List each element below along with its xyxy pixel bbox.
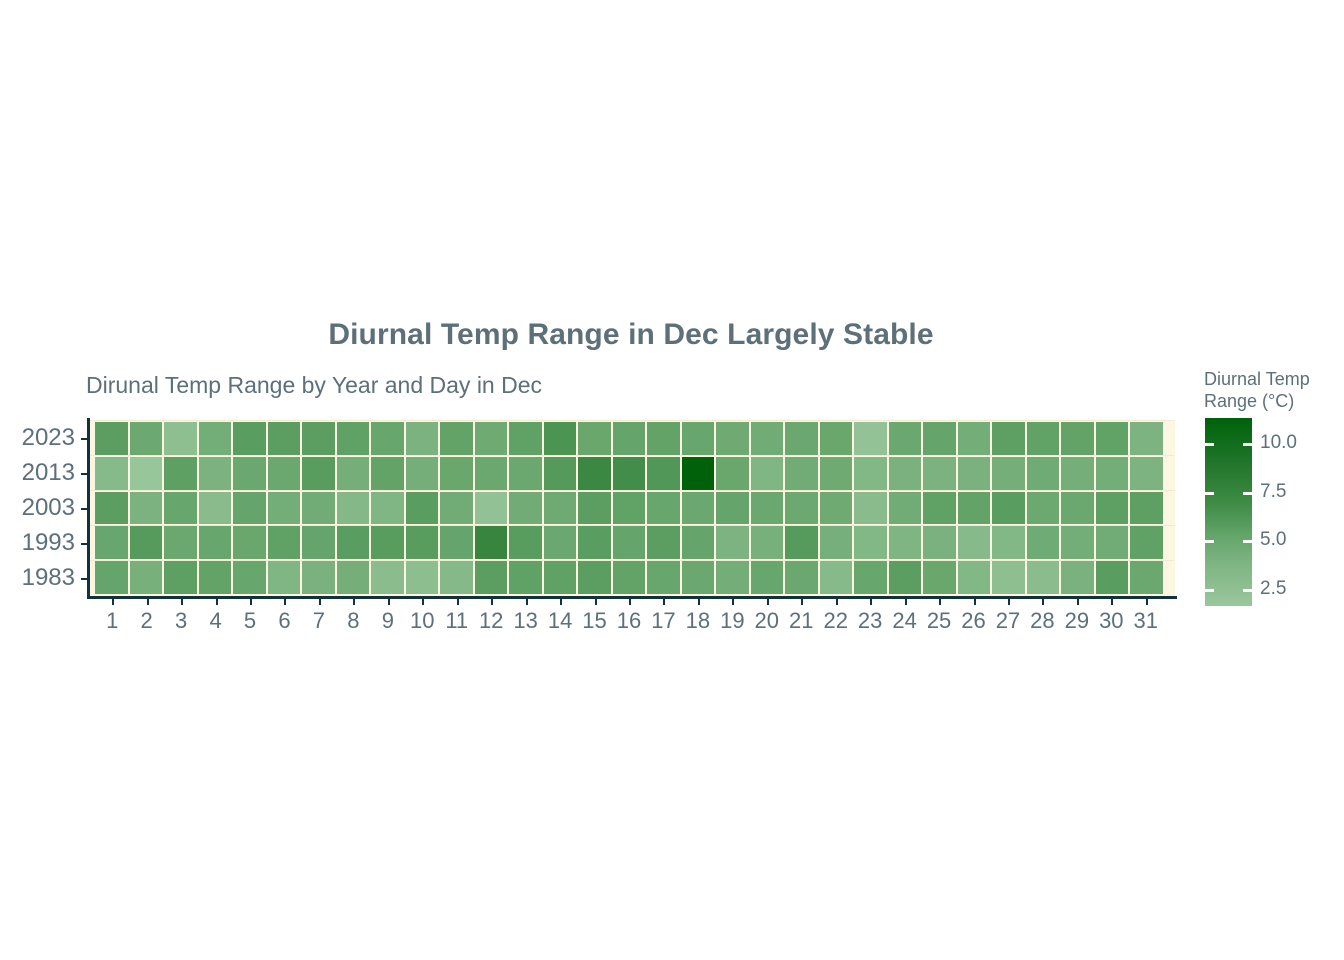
heatmap-cell <box>1061 492 1094 525</box>
heatmap-cell <box>716 526 749 559</box>
heatmap-cell <box>613 526 646 559</box>
x-axis-label: 12 <box>479 608 503 634</box>
x-axis-label: 14 <box>548 608 572 634</box>
x-axis-label: 27 <box>996 608 1020 634</box>
heatmap-cell <box>751 492 784 525</box>
x-axis-label: 16 <box>617 608 641 634</box>
x-axis-tick <box>353 599 355 605</box>
heatmap-cell <box>337 457 370 490</box>
heatmap-cell <box>647 457 680 490</box>
heatmap-cell <box>1027 561 1060 594</box>
x-axis-tick <box>1111 599 1113 605</box>
heatmap-cell <box>682 457 715 490</box>
heatmap-cell <box>820 422 853 455</box>
chart-figure: Diurnal Temp Range in Dec Largely Stable… <box>0 0 1344 960</box>
heatmap-cell <box>1061 422 1094 455</box>
heatmap-cell <box>751 457 784 490</box>
heatmap-cell <box>992 526 1025 559</box>
heatmap-cell <box>233 492 266 525</box>
heatmap-cell <box>475 457 508 490</box>
y-axis-tick <box>81 543 88 545</box>
heatmap-cell <box>923 457 956 490</box>
heatmap-cell <box>751 561 784 594</box>
x-axis-label: 6 <box>278 608 290 634</box>
heatmap-cell <box>95 457 128 490</box>
heatmap-cell <box>199 457 232 490</box>
heatmap-cell <box>613 561 646 594</box>
heatmap-cell <box>785 526 818 559</box>
heatmap-cell <box>406 422 439 455</box>
x-axis-label: 13 <box>513 608 537 634</box>
heatmap-cell <box>199 422 232 455</box>
heatmap-cell <box>992 561 1025 594</box>
heatmap-cell <box>958 422 991 455</box>
x-axis-label: 23 <box>858 608 882 634</box>
heatmap-cell <box>992 422 1025 455</box>
heatmap-cell <box>337 492 370 525</box>
heatmap-cell <box>199 561 232 594</box>
heatmap-cell <box>1096 561 1129 594</box>
heatmap-cell <box>578 492 611 525</box>
heatmap-cell <box>716 492 749 525</box>
heatmap-cell <box>785 457 818 490</box>
plot-panel <box>90 420 1175 596</box>
heatmap-cell <box>371 526 404 559</box>
heatmap-cell <box>440 492 473 525</box>
heatmap-cell <box>820 561 853 594</box>
heatmap-cell <box>544 457 577 490</box>
heatmap-cell <box>889 422 922 455</box>
heatmap-cell <box>923 492 956 525</box>
heatmap-cell <box>992 492 1025 525</box>
y-axis-tick <box>81 508 88 510</box>
heatmap-cell <box>1130 422 1163 455</box>
heatmap-cell <box>1096 526 1129 559</box>
heatmap-cell <box>337 561 370 594</box>
x-axis-label: 25 <box>927 608 951 634</box>
heatmap-cell <box>371 422 404 455</box>
heatmap-cell <box>164 492 197 525</box>
heatmap-cell <box>475 526 508 559</box>
heatmap-cell <box>854 492 887 525</box>
legend-title-line1: Diurnal Temp <box>1204 368 1344 391</box>
heatmap-cell <box>95 422 128 455</box>
heatmap-cell <box>475 422 508 455</box>
heatmap-cell <box>544 526 577 559</box>
heatmap-cell <box>1027 422 1060 455</box>
x-axis-tick <box>147 599 149 605</box>
y-axis-label: 1983 <box>0 566 75 590</box>
x-axis-label: 8 <box>347 608 359 634</box>
colorbar-tick-mark <box>1243 443 1252 446</box>
heatmap-cell <box>785 492 818 525</box>
x-axis-tick <box>491 599 493 605</box>
heatmap-cell <box>682 492 715 525</box>
heatmap-cell <box>164 561 197 594</box>
heatmap-cell <box>509 457 542 490</box>
colorbar-tick-mark <box>1205 540 1214 543</box>
heatmap-cell <box>268 457 301 490</box>
heatmap-cell <box>509 422 542 455</box>
x-axis-tick <box>698 599 700 605</box>
legend-title-line2: Range (°C) <box>1204 390 1294 413</box>
heatmap-cell <box>509 526 542 559</box>
heatmap-cell <box>578 422 611 455</box>
heatmap-cell <box>95 526 128 559</box>
heatmap-cell <box>371 492 404 525</box>
x-axis-tick <box>1042 599 1044 605</box>
heatmap-cell <box>923 422 956 455</box>
heatmap-cell <box>1096 457 1129 490</box>
heatmap-cell <box>889 526 922 559</box>
heatmap-cell <box>302 422 335 455</box>
colorbar-tick-mark <box>1205 443 1214 446</box>
heatmap-cell <box>337 526 370 559</box>
colorbar-tick-mark <box>1243 540 1252 543</box>
x-axis-tick <box>319 599 321 605</box>
heatmap-cell <box>130 526 163 559</box>
heatmap-cell <box>647 526 680 559</box>
heatmap-cell <box>992 457 1025 490</box>
heatmap-cell <box>613 492 646 525</box>
heatmap-cell <box>268 526 301 559</box>
x-axis-tick <box>1008 599 1010 605</box>
x-axis-tick <box>112 599 114 605</box>
x-axis-label: 11 <box>445 608 468 634</box>
heatmap-cell <box>475 492 508 525</box>
heatmap-cell <box>406 561 439 594</box>
x-axis-label: 1 <box>106 608 118 634</box>
heatmap-cell <box>820 457 853 490</box>
x-axis-tick <box>629 599 631 605</box>
heatmap-cell <box>785 422 818 455</box>
x-axis-label: 5 <box>244 608 256 634</box>
heatmap-cell <box>1061 561 1094 594</box>
heatmap-cell <box>647 422 680 455</box>
colorbar-tick-label: 2.5 <box>1260 578 1286 600</box>
heatmap-cell <box>268 492 301 525</box>
heatmap-grid <box>95 422 1163 594</box>
heatmap-cell <box>820 492 853 525</box>
heatmap-cell <box>95 561 128 594</box>
heatmap-cell <box>406 457 439 490</box>
heatmap-cell <box>958 457 991 490</box>
heatmap-cell <box>233 422 266 455</box>
x-axis-tick <box>422 599 424 605</box>
heatmap-cell <box>199 526 232 559</box>
heatmap-cell <box>164 457 197 490</box>
heatmap-cell <box>406 526 439 559</box>
heatmap-cell <box>1096 422 1129 455</box>
x-axis-tick <box>216 599 218 605</box>
colorbar-tick-label: 7.5 <box>1260 481 1286 503</box>
x-axis-tick <box>595 599 597 605</box>
heatmap-cell <box>509 561 542 594</box>
heatmap-cell <box>371 457 404 490</box>
heatmap-cell <box>337 422 370 455</box>
heatmap-cell <box>164 526 197 559</box>
heatmap-cell <box>578 457 611 490</box>
heatmap-cell <box>1096 492 1129 525</box>
heatmap-cell <box>854 526 887 559</box>
x-axis-tick <box>388 599 390 605</box>
y-axis-tick <box>81 438 88 440</box>
heatmap-cell <box>302 492 335 525</box>
x-axis-label: 10 <box>410 608 434 634</box>
y-axis-label: 2023 <box>0 426 75 450</box>
x-axis-tick <box>663 599 665 605</box>
heatmap-cell <box>268 422 301 455</box>
heatmap-cell <box>199 492 232 525</box>
heatmap-cell <box>613 422 646 455</box>
y-axis-tick <box>81 473 88 475</box>
x-axis-tick <box>526 599 528 605</box>
y-axis-label: 2013 <box>0 461 75 485</box>
x-axis-label: 2 <box>141 608 153 634</box>
x-axis-tick <box>250 599 252 605</box>
x-axis-tick <box>905 599 907 605</box>
heatmap-cell <box>440 422 473 455</box>
x-axis-tick <box>732 599 734 605</box>
heatmap-cell <box>440 561 473 594</box>
heatmap-cell <box>958 492 991 525</box>
heatmap-cell <box>95 492 128 525</box>
x-axis-tick <box>560 599 562 605</box>
y-axis-labels: 20232013200319931983 <box>0 420 75 596</box>
x-axis-label: 4 <box>209 608 221 634</box>
heatmap-cell <box>854 561 887 594</box>
x-axis-tick <box>1077 599 1079 605</box>
heatmap-cell <box>682 422 715 455</box>
heatmap-cell <box>647 492 680 525</box>
x-axis-label: 9 <box>382 608 394 634</box>
y-axis-tick <box>81 578 88 580</box>
x-axis-label: 7 <box>313 608 325 634</box>
heatmap-cell <box>164 422 197 455</box>
heatmap-cell <box>716 457 749 490</box>
heatmap-cell <box>889 457 922 490</box>
x-axis-tick <box>284 599 286 605</box>
chart-subtitle: Dirunal Temp Range by Year and Day in De… <box>86 372 542 399</box>
heatmap-cell <box>820 526 853 559</box>
heatmap-cell <box>268 561 301 594</box>
heatmap-cell <box>233 457 266 490</box>
heatmap-cell <box>440 457 473 490</box>
x-axis-tick <box>1146 599 1148 605</box>
heatmap-cell <box>130 457 163 490</box>
colorbar-tick-mark <box>1205 492 1214 495</box>
heatmap-cell <box>1027 526 1060 559</box>
x-axis-label: 18 <box>686 608 710 634</box>
heatmap-cell <box>751 526 784 559</box>
x-axis-label: 3 <box>175 608 187 634</box>
heatmap-cell <box>1130 457 1163 490</box>
heatmap-cell <box>130 561 163 594</box>
x-axis-tick <box>939 599 941 605</box>
x-axis-tick <box>836 599 838 605</box>
heatmap-cell <box>233 526 266 559</box>
colorbar-legend: Diurnal Temp Range (°C) 10.07.55.02.5 <box>1204 368 1344 658</box>
heatmap-cell <box>1027 457 1060 490</box>
x-axis-label: 15 <box>582 608 606 634</box>
heatmap-cell <box>130 422 163 455</box>
heatmap-cell <box>854 457 887 490</box>
x-axis-label: 28 <box>1030 608 1054 634</box>
x-axis-label: 29 <box>1065 608 1089 634</box>
x-axis-tick <box>767 599 769 605</box>
x-axis-tick <box>457 599 459 605</box>
heatmap-cell <box>130 492 163 525</box>
x-axis-label: 26 <box>961 608 985 634</box>
x-axis-tick <box>870 599 872 605</box>
heatmap-cell <box>647 561 680 594</box>
heatmap-cell <box>509 492 542 525</box>
heatmap-cell <box>889 561 922 594</box>
x-axis-labels: 1234567891011121314151617181920212223242… <box>95 608 1163 642</box>
heatmap-cell <box>1061 457 1094 490</box>
heatmap-cell <box>682 526 715 559</box>
y-axis-label: 2003 <box>0 496 75 520</box>
heatmap-cell <box>716 561 749 594</box>
colorbar-tick-mark <box>1243 492 1252 495</box>
heatmap-cell <box>1130 561 1163 594</box>
heatmap-cell <box>406 492 439 525</box>
x-axis-tick <box>974 599 976 605</box>
heatmap-cell <box>751 422 784 455</box>
x-axis-label: 19 <box>720 608 744 634</box>
gridline-horizontal <box>90 420 1175 421</box>
x-axis-label: 20 <box>755 608 779 634</box>
heatmap-cell <box>544 492 577 525</box>
y-axis-label: 1993 <box>0 531 75 555</box>
heatmap-cell <box>544 422 577 455</box>
heatmap-cell <box>785 561 818 594</box>
x-axis-tick <box>801 599 803 605</box>
heatmap-cell <box>958 561 991 594</box>
heatmap-cell <box>1027 492 1060 525</box>
colorbar-tick-label: 10.0 <box>1260 432 1297 454</box>
x-axis-label: 22 <box>823 608 847 634</box>
heatmap-cell <box>923 526 956 559</box>
heatmap-cell <box>302 561 335 594</box>
colorbar-tick-mark <box>1205 589 1214 592</box>
x-axis-label: 31 <box>1134 608 1158 634</box>
heatmap-cell <box>958 526 991 559</box>
heatmap-cell <box>440 526 473 559</box>
x-axis-label: 21 <box>789 608 813 634</box>
colorbar-tick-label: 5.0 <box>1260 529 1286 551</box>
heatmap-cell <box>233 561 266 594</box>
x-axis-label: 17 <box>651 608 675 634</box>
heatmap-cell <box>923 561 956 594</box>
colorbar-gradient <box>1205 418 1252 606</box>
heatmap-cell <box>578 526 611 559</box>
x-axis-label: 30 <box>1099 608 1123 634</box>
heatmap-cell <box>302 457 335 490</box>
heatmap-cell <box>1061 526 1094 559</box>
x-axis-tick <box>181 599 183 605</box>
heatmap-cell <box>889 492 922 525</box>
colorbar-tick-mark <box>1243 589 1252 592</box>
heatmap-cell <box>544 561 577 594</box>
heatmap-cell <box>475 561 508 594</box>
heatmap-cell <box>613 457 646 490</box>
x-axis-label: 24 <box>892 608 916 634</box>
heatmap-cell <box>682 561 715 594</box>
heatmap-cell <box>716 422 749 455</box>
heatmap-cell <box>1130 526 1163 559</box>
heatmap-cell <box>1130 492 1163 525</box>
heatmap-cell <box>302 526 335 559</box>
heatmap-cell <box>578 561 611 594</box>
chart-title: Diurnal Temp Range in Dec Largely Stable <box>0 318 1262 352</box>
heatmap-cell <box>854 422 887 455</box>
heatmap-cell <box>371 561 404 594</box>
